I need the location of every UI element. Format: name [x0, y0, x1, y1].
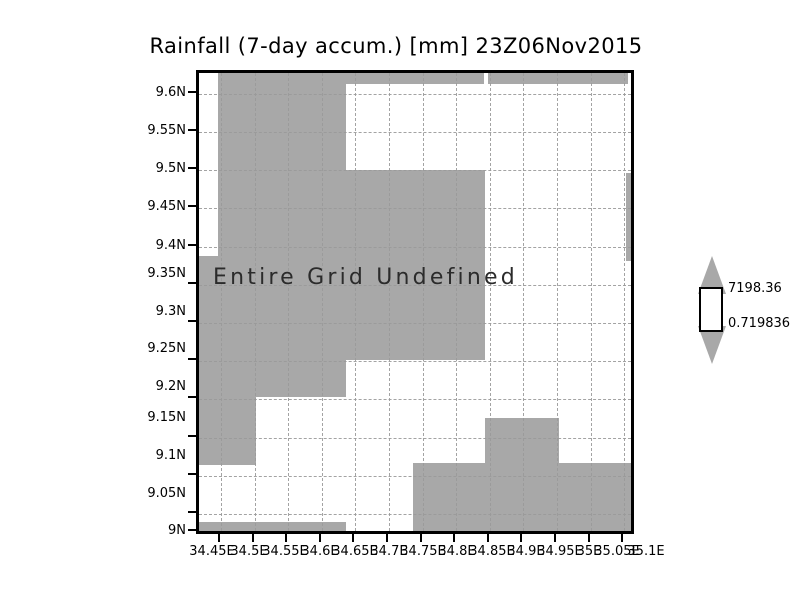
y-tick-mark: [188, 396, 196, 398]
x-axis-label: 35.1E: [627, 544, 664, 559]
y-axis-label: 9.45N: [0, 199, 186, 214]
y-tick-mark: [188, 358, 196, 360]
x-tick-mark: [252, 534, 254, 542]
gridline-horizontal: [199, 399, 631, 400]
y-axis-label: 9.5N: [0, 161, 186, 176]
gridline-vertical: [490, 73, 491, 531]
y-axis-label: 9N: [0, 523, 186, 538]
colorbar-high-label: 7198.36: [728, 281, 782, 296]
x-tick-mark: [588, 534, 590, 542]
x-axis-label: 34.45E: [189, 544, 234, 559]
y-axis-label: 9.25N: [0, 341, 186, 356]
data-cell: [346, 73, 484, 84]
x-tick-mark: [386, 534, 388, 542]
y-tick-mark: [188, 473, 196, 475]
plot-canvas: Entire Grid Undefined: [199, 73, 631, 531]
x-tick-mark: [319, 534, 321, 542]
gridline-vertical: [221, 73, 222, 531]
gridline-vertical: [557, 73, 558, 531]
x-tick-mark: [621, 534, 623, 542]
y-tick-mark: [188, 91, 196, 93]
gridline-vertical: [355, 73, 356, 531]
gridline-vertical: [389, 73, 390, 531]
x-tick-mark: [218, 534, 220, 542]
colorbar-legend[interactable]: [698, 256, 726, 364]
y-axis-label: 9.2N: [0, 379, 186, 394]
gridline-vertical: [255, 73, 256, 531]
colorbar-low-label: 0.719836: [728, 316, 790, 331]
y-tick-mark: [188, 129, 196, 131]
x-tick-mark: [352, 534, 354, 542]
y-axis-label: 9.15N: [0, 410, 186, 425]
page-title: Rainfall (7-day accum.) [mm] 23Z06Nov201…: [0, 34, 792, 58]
y-tick-mark: [188, 529, 196, 531]
y-tick-mark: [188, 167, 196, 169]
gridline-horizontal: [199, 323, 631, 324]
data-cell: [488, 73, 628, 84]
x-tick-mark: [285, 534, 287, 542]
y-axis-label: 9.3N: [0, 304, 186, 319]
gridline-vertical: [288, 73, 289, 531]
y-tick-mark: [188, 511, 196, 513]
gridline-horizontal: [199, 94, 631, 95]
x-tick-mark: [453, 534, 455, 542]
y-axis-label: 9.35N: [0, 266, 186, 281]
gridline-horizontal: [199, 208, 631, 209]
y-axis-label: 9.1N: [0, 448, 186, 463]
y-tick-mark: [188, 435, 196, 437]
gridline-vertical: [591, 73, 592, 531]
x-tick-mark: [554, 534, 556, 542]
y-axis-label: 9.05N: [0, 486, 186, 501]
gridline-horizontal: [199, 514, 631, 515]
y-tick-mark: [188, 205, 196, 207]
gridline-horizontal: [199, 132, 631, 133]
gridline-horizontal: [199, 438, 631, 439]
x-tick-mark: [520, 534, 522, 542]
data-cell: [485, 418, 559, 463]
gridline-horizontal: [199, 361, 631, 362]
data-cell: [413, 463, 473, 534]
gridline-vertical: [624, 73, 625, 531]
y-tick-mark: [188, 282, 196, 284]
plot-area[interactable]: Entire Grid Undefined: [196, 70, 634, 534]
colorbar-swatch: [699, 287, 723, 332]
gridline-horizontal: [199, 170, 631, 171]
x-tick-mark: [420, 534, 422, 542]
gridline-horizontal: [199, 247, 631, 248]
gridline-vertical: [456, 73, 457, 531]
gridline-vertical: [523, 73, 524, 531]
entire-grid-undefined-label: Entire Grid Undefined: [213, 265, 518, 290]
gridline-vertical: [423, 73, 424, 531]
y-axis-label: 9.55N: [0, 123, 186, 138]
gridline-horizontal: [199, 476, 631, 477]
gridline-vertical: [322, 73, 323, 531]
y-axis-label: 9.6N: [0, 85, 186, 100]
x-tick-mark: [487, 534, 489, 542]
y-tick-mark: [188, 244, 196, 246]
y-tick-mark: [188, 320, 196, 322]
y-axis-label: 9.4N: [0, 238, 186, 253]
